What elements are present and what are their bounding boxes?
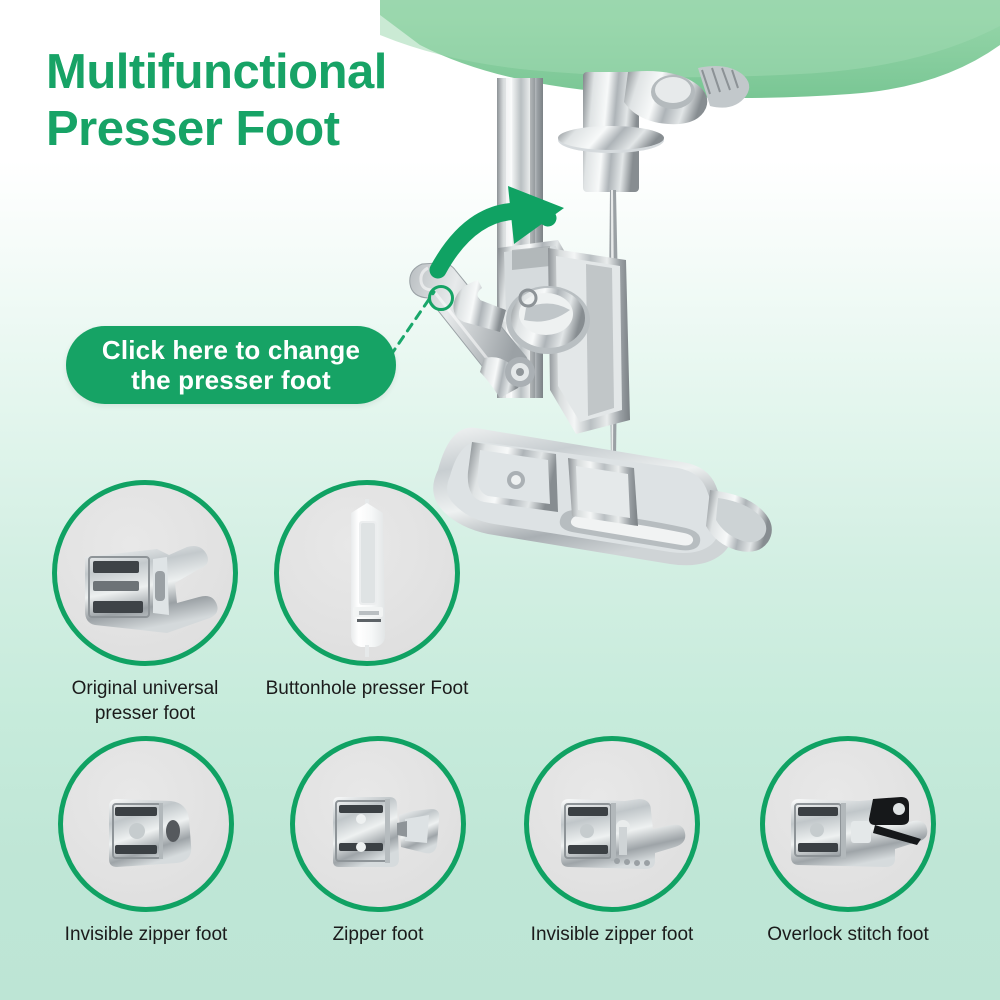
invisible-zipper-foot-icon	[529, 741, 700, 912]
foot-caption: Invisible zipper foot	[26, 922, 266, 947]
foot-card-invisible-zipper-foot-2[interactable]: Invisible zipper foot	[524, 736, 700, 912]
buttonhole-presser-foot-icon	[279, 485, 460, 666]
foot-card-buttonhole-presser-foot[interactable]: Buttonhole presser Foot	[274, 480, 460, 666]
foot-caption: Zipper foot	[258, 922, 498, 947]
foot-thumbnail-disc	[760, 736, 936, 912]
callout-label: Click here to change the presser foot	[102, 335, 360, 395]
foot-thumbnail-disc	[52, 480, 238, 666]
foot-caption: Invisible zipper foot	[492, 922, 732, 947]
sewing-machine-illustration	[380, 0, 1000, 630]
page-title: Multifunctional Presser Foot	[46, 44, 387, 158]
product-infographic: Multifunctional Presser Foot Click here …	[0, 0, 1000, 1000]
presser-foot-sole	[433, 428, 772, 566]
zipper-foot-icon	[295, 741, 466, 912]
foot-card-overlock-stitch-foot[interactable]: Overlock stitch foot	[760, 736, 936, 912]
overlock-stitch-foot-icon	[765, 741, 936, 912]
foot-thumbnail-disc	[274, 480, 460, 666]
foot-thumbnail-disc	[58, 736, 234, 912]
foot-card-invisible-zipper-foot-1[interactable]: Invisible zipper foot	[58, 736, 234, 912]
presser-bar-housing	[558, 66, 749, 192]
foot-thumbnail-disc	[290, 736, 466, 912]
foot-caption: Original universal presser foot	[20, 676, 270, 726]
presser-foot-lever-marker[interactable]	[428, 285, 454, 311]
invisible-zipper-foot-icon	[63, 741, 234, 912]
foot-caption: Buttonhole presser Foot	[242, 676, 492, 701]
foot-thumbnail-disc	[524, 736, 700, 912]
change-presser-foot-callout[interactable]: Click here to change the presser foot	[66, 326, 396, 404]
foot-card-zipper-foot[interactable]: Zipper foot	[290, 736, 466, 912]
foot-caption: Overlock stitch foot	[728, 922, 968, 947]
universal-presser-foot-icon	[57, 485, 238, 666]
foot-card-original-universal-presser-foot[interactable]: Original universal presser foot	[52, 480, 238, 666]
